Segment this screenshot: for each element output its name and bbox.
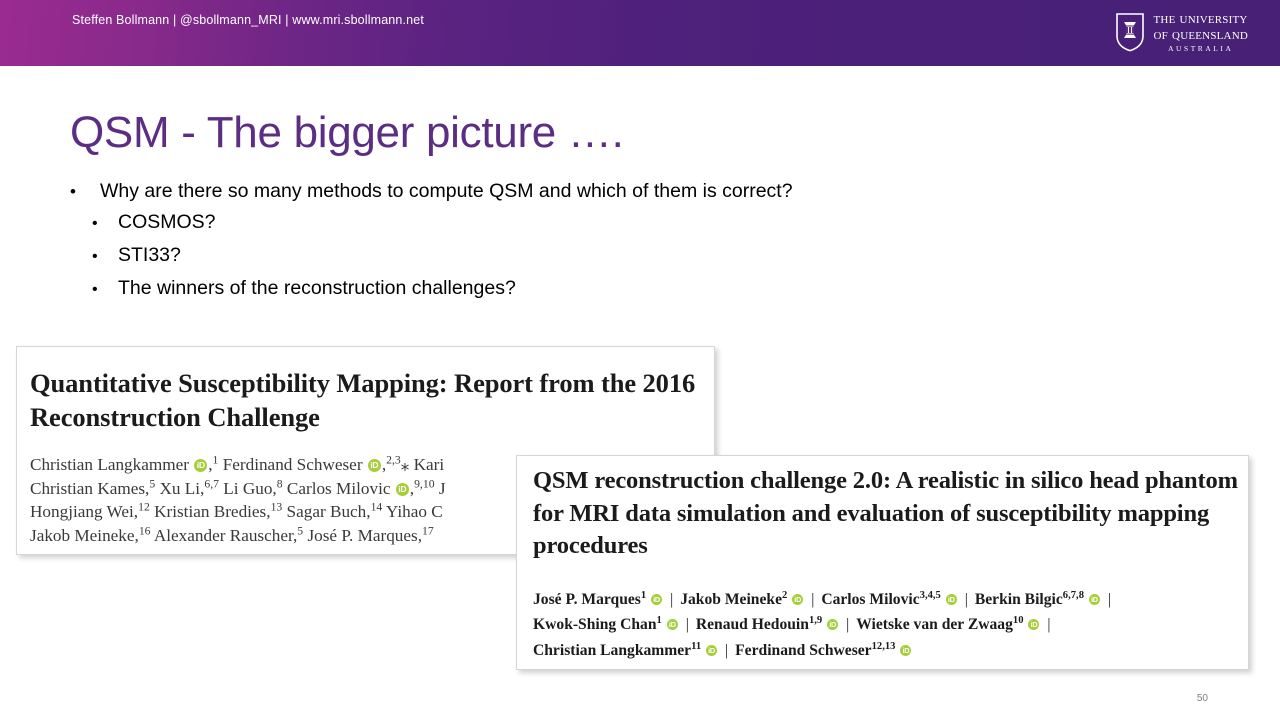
bullet-item-2: • STI33? — [70, 244, 1070, 267]
orcid-icon — [1089, 594, 1100, 605]
uq-logo: The University Of Queensland AUSTRALIA — [1115, 11, 1249, 53]
bullet-marker: • — [92, 281, 118, 299]
bullet-marker: • — [92, 248, 118, 266]
paper-2-authors: José P. Marques1 |Jakob Meineke2 |Carlos… — [533, 587, 1249, 663]
paper-screenshot-2: QSM reconstruction challenge 2.0: A real… — [516, 455, 1249, 670]
bullet-text: Why are there so many methods to compute… — [100, 180, 793, 203]
slide-title: QSM - The bigger picture …. — [70, 108, 624, 158]
bullet-list: • Why are there so many methods to compu… — [70, 180, 1070, 310]
bullet-marker: • — [92, 215, 118, 233]
orcid-icon — [194, 459, 207, 472]
paper-2-title: QSM reconstruction challenge 2.0: A real… — [533, 465, 1249, 563]
bullet-text: COSMOS? — [118, 211, 216, 234]
bullet-marker: • — [70, 182, 100, 202]
orcid-icon — [827, 619, 838, 630]
orcid-icon — [706, 645, 717, 656]
paper-2-author-line-1: Kwok-Shing Chan1 |Renaud Hedouin1,9 |Wie… — [533, 612, 1249, 637]
bullet-item-3: • The winners of the reconstruction chal… — [70, 277, 1070, 300]
paper-2-author-line-0: José P. Marques1 |Jakob Meineke2 |Carlos… — [533, 587, 1249, 612]
bullet-item-0: • Why are there so many methods to compu… — [70, 180, 1070, 203]
header-banner: Steffen Bollmann | @sbollmann_MRI | www.… — [0, 0, 1280, 66]
orcid-icon — [651, 594, 662, 605]
uq-wordmark: The University Of Queensland AUSTRALIA — [1154, 11, 1249, 53]
bullet-text: STI33? — [118, 244, 181, 267]
presenter-credit: Steffen Bollmann | @sbollmann_MRI | www.… — [72, 13, 424, 27]
uq-wordmark-line3: AUSTRALIA — [1154, 45, 1249, 53]
orcid-icon — [667, 619, 678, 630]
orcid-icon — [396, 483, 409, 496]
bullet-item-1: • COSMOS? — [70, 211, 1070, 234]
paper-2-author-line-2: Christian Langkammer11 |Ferdinand Schwes… — [533, 638, 1249, 663]
page-number: 50 — [1197, 693, 1208, 704]
uq-wordmark-line1: The University — [1154, 11, 1249, 27]
orcid-icon — [1028, 619, 1039, 630]
orcid-icon — [900, 645, 911, 656]
uq-wordmark-line2: Of Queensland — [1154, 27, 1249, 43]
orcid-icon — [792, 594, 803, 605]
paper-1-title: Quantitative Susceptibility Mapping: Rep… — [30, 367, 715, 435]
orcid-icon — [946, 594, 957, 605]
uq-shield-crest-icon — [1115, 12, 1145, 52]
orcid-icon — [368, 459, 381, 472]
bullet-text: The winners of the reconstruction challe… — [118, 277, 516, 300]
